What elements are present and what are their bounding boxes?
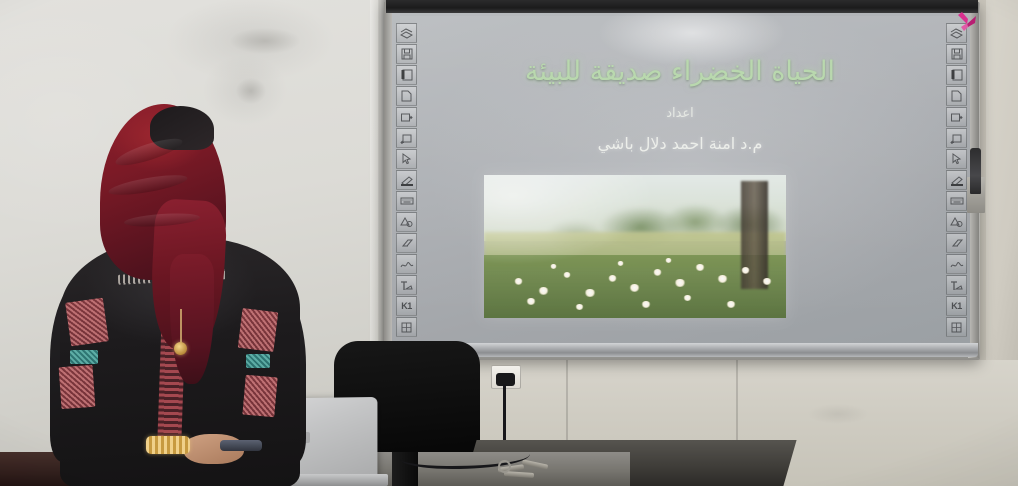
whiteboard-top-bar	[386, 0, 978, 13]
butterfly-clip-icon	[955, 10, 979, 36]
pointer-select-icon[interactable]	[396, 149, 417, 169]
eraser-icon[interactable]	[946, 233, 967, 253]
page-black-corner-icon[interactable]	[396, 65, 417, 85]
power-cable	[503, 384, 506, 446]
keyboard-icon[interactable]	[946, 191, 967, 211]
page-back-icon[interactable]	[946, 128, 967, 148]
sleeve-embroidery-3	[238, 308, 279, 352]
keychain[interactable]	[498, 460, 552, 482]
whiteboard-right-toolbar[interactable]: K1	[946, 22, 969, 338]
page-black-corner-icon[interactable]	[946, 65, 967, 85]
classroom-photo-scene: الحياة الخضراء صديقة للبيئة اعداد م.د ام…	[0, 0, 1018, 486]
save-disk-icon[interactable]	[396, 44, 417, 64]
whiteboard-left-toolbar[interactable]: K1	[396, 22, 419, 338]
keyboard-icon[interactable]	[396, 191, 417, 211]
text-tool-icon[interactable]	[396, 275, 417, 295]
woman-presenter	[34, 104, 304, 486]
grid-box-icon[interactable]	[946, 317, 967, 337]
whiteboard-surface[interactable]	[392, 13, 970, 343]
page-back-icon[interactable]	[396, 128, 417, 148]
blank-page-icon[interactable]	[396, 86, 417, 106]
page-forward-icon[interactable]	[396, 107, 417, 127]
grid-box-icon[interactable]	[396, 317, 417, 337]
eraser-icon[interactable]	[396, 233, 417, 253]
wall-mark-3	[808, 404, 868, 424]
sleeve-embroidery-2	[59, 365, 96, 409]
sleeve-embroidery-teal-2	[246, 354, 270, 368]
pages-stack-icon[interactable]	[396, 23, 417, 43]
highlighter-pen-icon[interactable]	[946, 170, 967, 190]
gold-bracelet	[146, 436, 190, 454]
shapes-icon[interactable]	[396, 212, 417, 232]
marker-pen[interactable]	[970, 148, 981, 194]
scribble-pen-icon[interactable]	[946, 254, 967, 274]
scribble-pen-icon[interactable]	[396, 254, 417, 274]
presentation-clicker[interactable]	[220, 440, 262, 451]
wall-mark-1	[230, 28, 300, 54]
blank-page-icon[interactable]	[946, 86, 967, 106]
pointer-select-icon[interactable]	[946, 149, 967, 169]
sleeve-embroidery-teal-1	[70, 350, 98, 364]
sleeve-embroidery-1	[65, 298, 109, 347]
gold-pendant	[174, 342, 187, 355]
k1-label-icon[interactable]: K1	[396, 296, 417, 316]
highlighter-pen-icon[interactable]	[396, 170, 417, 190]
wall-mark-2	[236, 78, 266, 104]
page-forward-icon[interactable]	[946, 107, 967, 127]
necklace-chain	[180, 309, 182, 345]
shapes-icon[interactable]	[946, 212, 967, 232]
save-disk-icon[interactable]	[946, 44, 967, 64]
sleeve-embroidery-4	[242, 375, 277, 418]
text-tool-icon[interactable]	[946, 275, 967, 295]
k1-label-icon[interactable]: K1	[946, 296, 967, 316]
